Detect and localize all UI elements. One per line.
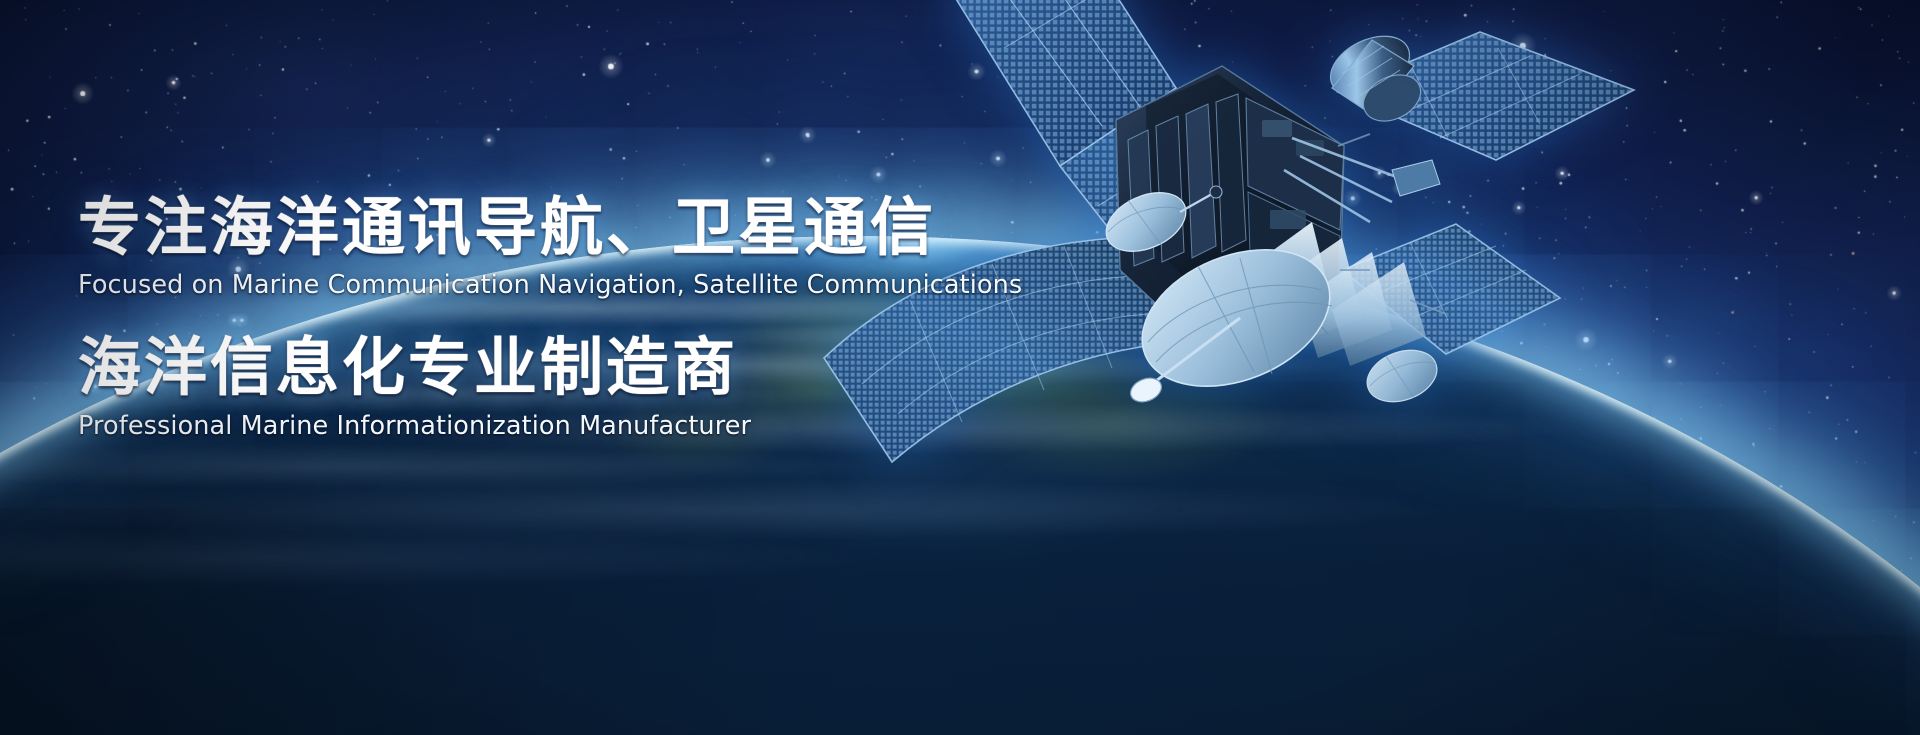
headline-block-primary: 专注海洋通讯导航、卫星通信 Focused on Marine Communic…	[78, 196, 1178, 300]
headline-secondary-chinese: 海洋信息化专业制造商	[78, 336, 1178, 399]
hero-banner: 专注海洋通讯导航、卫星通信 Focused on Marine Communic…	[0, 0, 1920, 735]
headline-primary-english: Focused on Marine Communication Navigati…	[78, 270, 1178, 300]
headline-primary-chinese: 专注海洋通讯导航、卫星通信	[78, 196, 1178, 259]
headline-block-secondary: 海洋信息化专业制造商 Professional Marine Informati…	[78, 336, 1178, 441]
headline-secondary-english: Professional Marine Informationization M…	[78, 411, 1178, 441]
